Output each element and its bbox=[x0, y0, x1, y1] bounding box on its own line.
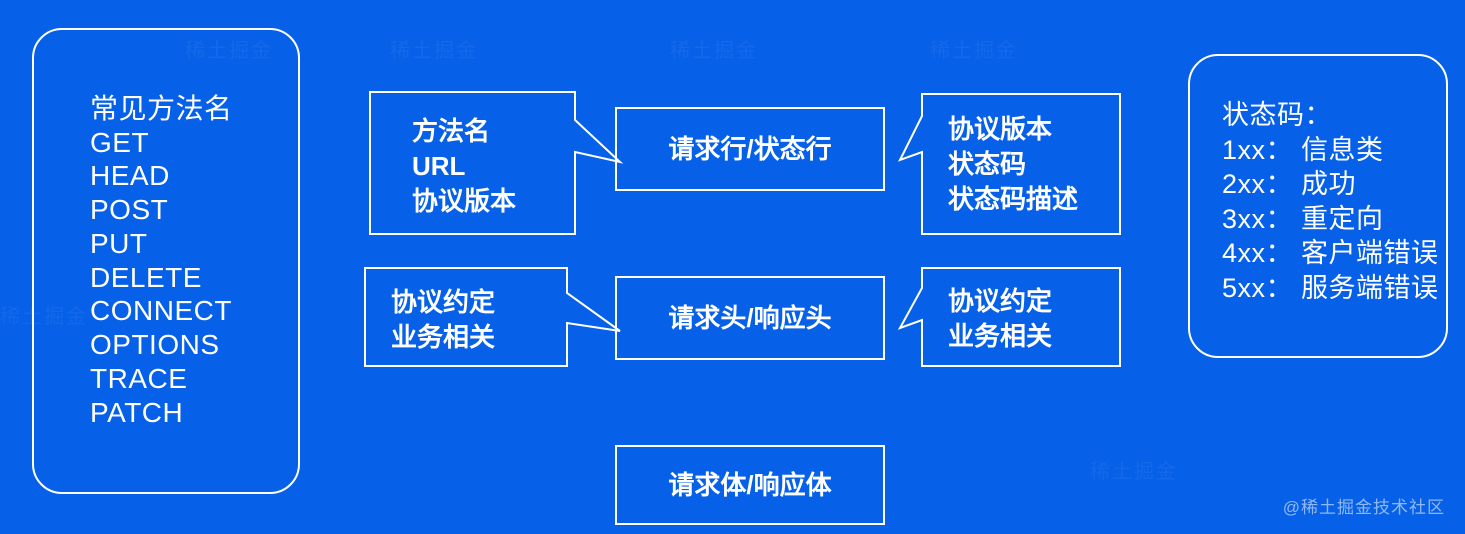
start-line-box-label: 请求行/状态行 bbox=[668, 132, 831, 166]
status-line-fields-text: 协议版本 状态码 状态码描述 bbox=[948, 112, 1078, 216]
background-watermark: 稀土掘金 bbox=[1090, 455, 1178, 484]
background-watermark: 稀土掘金 bbox=[670, 34, 758, 63]
header-box: 请求头/响应头 bbox=[615, 276, 885, 360]
header-box-label: 请求头/响应头 bbox=[668, 301, 831, 335]
body-box: 请求体/响应体 bbox=[615, 445, 885, 525]
request-header-fields-callout: 协议约定 业务相关 bbox=[365, 268, 630, 368]
status-code-text: 状态码： 1xx： 信息类 2xx： 成功 3xx： 重定向 4xx： 客户端错… bbox=[1222, 98, 1439, 305]
response-header-fields-callout: 协议约定 业务相关 bbox=[900, 268, 1122, 368]
body-box-label: 请求体/响应体 bbox=[668, 468, 831, 502]
common-http-methods-text: 常见方法名 GET HEAD POST PUT DELETE CONNECT O… bbox=[90, 92, 233, 429]
response-header-fields-text: 协议约定 业务相关 bbox=[948, 284, 1052, 354]
site-watermark: @稀土掘金技术社区 bbox=[1283, 493, 1445, 518]
status-line-fields-callout: 协议版本 状态码 状态码描述 bbox=[900, 94, 1122, 236]
background-watermark: 稀土掘金 bbox=[930, 34, 1018, 63]
request-line-fields-callout: 方法名 URL 协议版本 bbox=[370, 92, 630, 237]
background-watermark: 稀土掘金 bbox=[390, 34, 478, 63]
request-line-fields-text: 方法名 URL 协议版本 bbox=[412, 114, 516, 218]
diagram-canvas: 稀土掘金 稀土掘金 稀土掘金 稀土掘金 稀土掘金 稀土掘金 常见方法名 GET … bbox=[0, 0, 1465, 534]
request-header-fields-text: 协议约定 业务相关 bbox=[391, 285, 495, 355]
start-line-box: 请求行/状态行 bbox=[615, 107, 885, 191]
